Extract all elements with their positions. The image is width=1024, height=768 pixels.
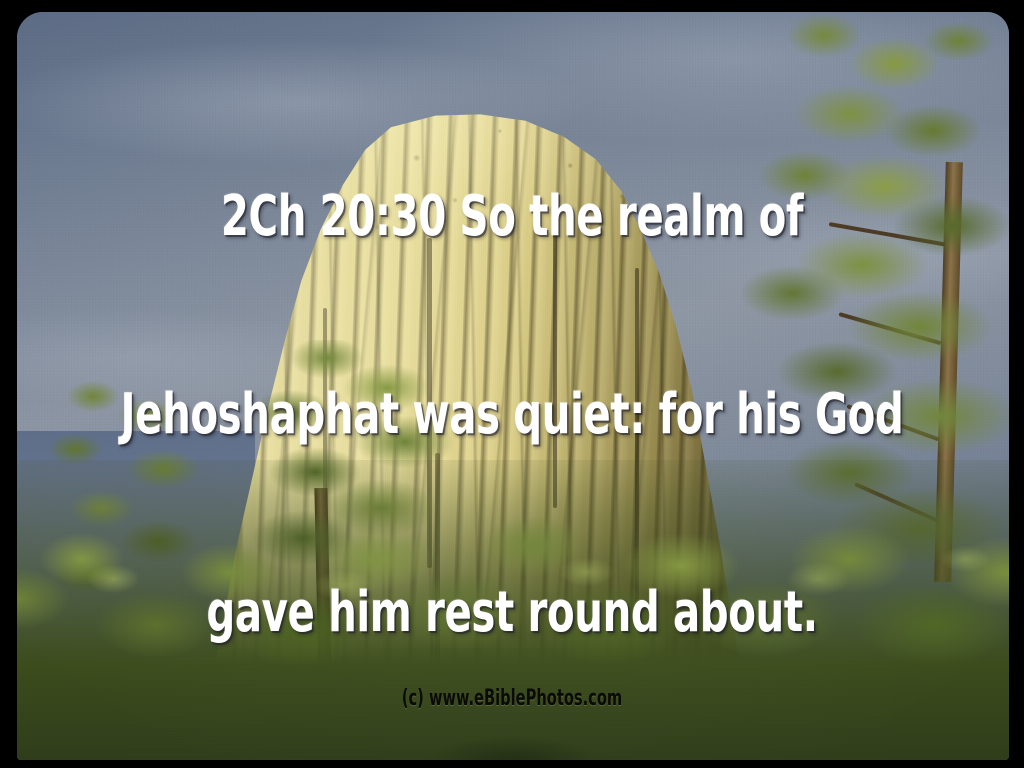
image-canvas: 2Ch 20:30 So the realm of Jehoshaphat wa… — [0, 0, 1024, 768]
foreground-canopy-highlights — [17, 460, 1009, 760]
photograph — [17, 12, 1009, 760]
